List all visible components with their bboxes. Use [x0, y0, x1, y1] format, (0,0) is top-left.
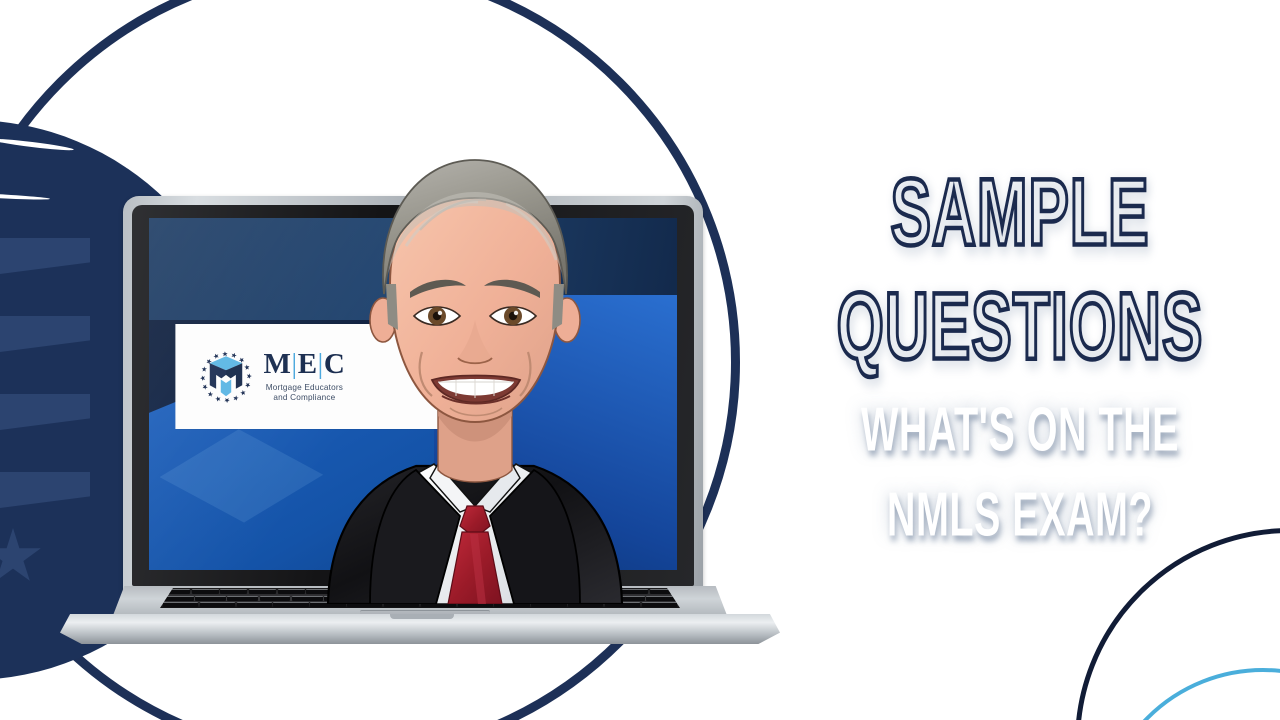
headline-line-3: WHAT'S ON THE — [790, 401, 1250, 460]
laptop-front-notch — [390, 614, 454, 619]
headline-line-2: QUESTIONS — [775, 284, 1265, 371]
star-shape — [0, 528, 42, 586]
instructor-portrait — [310, 134, 640, 604]
headline-line-1: SAMPLE — [775, 170, 1265, 257]
brush-streak — [0, 137, 74, 152]
navy-arc-bottom-right — [1075, 528, 1280, 720]
headline-line-4: NMLS EXAM? — [790, 486, 1250, 545]
thumbnail-canvas: M|E|C Mortgage Educators and Compliance — [0, 0, 1280, 720]
brush-streak — [0, 191, 50, 201]
laptop-illustration: M|E|C Mortgage Educators and Compliance — [60, 196, 780, 644]
cyan-arc-bottom-right — [1098, 668, 1280, 720]
headline-block: SAMPLE QUESTIONS WHAT'S ON THE NMLS EXAM… — [770, 170, 1270, 530]
